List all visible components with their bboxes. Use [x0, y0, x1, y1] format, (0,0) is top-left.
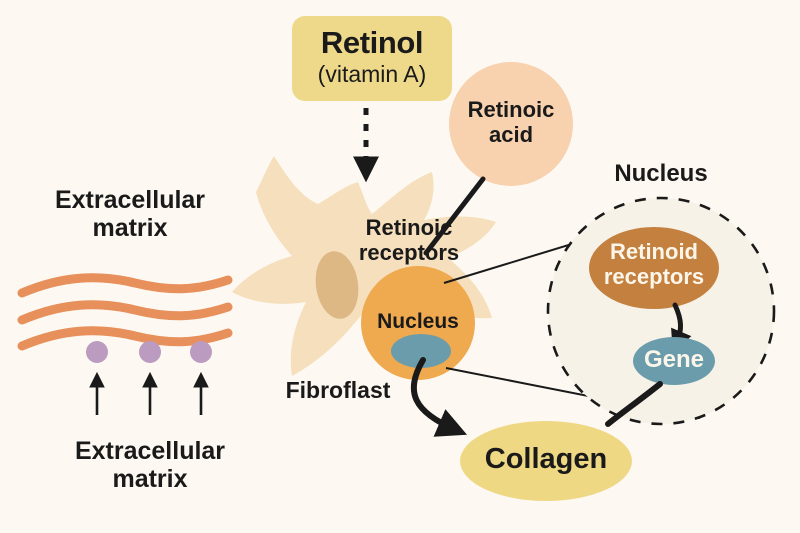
ecm-arrow-group	[97, 375, 201, 415]
diagram-graphics	[0, 0, 800, 533]
collagen-ellipse	[460, 421, 632, 501]
gene-ellipse	[633, 337, 715, 385]
ecm-dot	[190, 341, 212, 363]
ecm-fiber-2	[22, 305, 228, 320]
retinol-box[interactable]	[292, 16, 452, 101]
diagram-canvas: Retinol (vitamin A) Retinoic acid Retino…	[0, 0, 800, 533]
retinoid-receptors-ellipse	[589, 227, 719, 309]
ecm-dot	[139, 341, 161, 363]
ecm-fiber-group	[22, 278, 228, 346]
ecm-fiber-1	[22, 278, 228, 293]
ecm-dot	[86, 341, 108, 363]
retinoic-acid-circle	[449, 62, 573, 186]
